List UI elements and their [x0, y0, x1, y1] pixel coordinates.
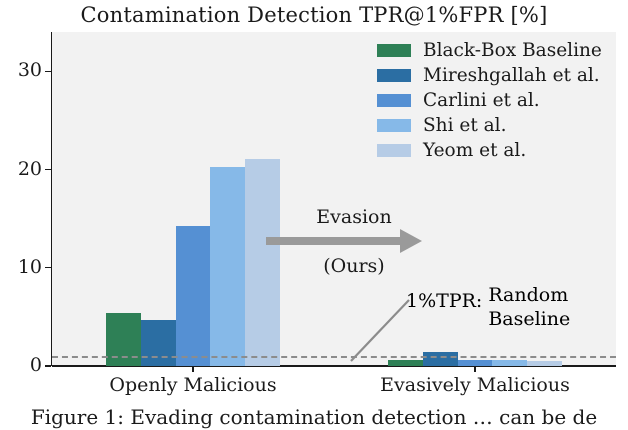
tpr-prefix-label: 1%TPR:	[406, 283, 482, 313]
y-axis-spine	[51, 32, 52, 366]
figure-caption: Figure 1: Evading contamination detectio…	[0, 405, 628, 430]
legend-label: Yeom et al.	[423, 141, 526, 161]
y-tick-mark	[45, 169, 51, 170]
y-tick-label: 10	[0, 258, 42, 277]
bar	[423, 352, 458, 366]
legend-label: Shi et al.	[423, 116, 506, 136]
bar	[492, 360, 527, 366]
bar	[210, 167, 245, 366]
legend-swatch-icon	[377, 44, 411, 57]
evasion-annotation: Evasion (Ours)	[258, 206, 438, 282]
legend-item[interactable]: Mireshgallah et al.	[377, 63, 617, 88]
legend-label: Mireshgallah et al.	[423, 66, 600, 86]
y-tick-mark	[45, 365, 51, 366]
chart-title: Contamination Detection TPR@1%FPR [%]	[0, 2, 628, 28]
bar	[527, 361, 562, 366]
y-tick-label: 30	[0, 61, 42, 80]
x-tick-mark	[474, 366, 475, 372]
legend-swatch-icon	[377, 94, 411, 107]
bar	[176, 226, 211, 366]
legend-swatch-icon	[377, 69, 411, 82]
tpr-suffix-line1: Random	[488, 284, 568, 306]
random-baseline-line	[52, 356, 616, 358]
y-tick-mark	[45, 267, 51, 268]
legend-item[interactable]: Carlini et al.	[377, 88, 617, 113]
x-tick-label: Openly Malicious	[63, 374, 323, 396]
legend: Black-Box BaselineMireshgallah et al.Car…	[377, 38, 617, 163]
x-tick-label: Evasively Malicious	[345, 374, 605, 396]
y-tick-label: 0	[0, 356, 42, 375]
legend-item[interactable]: Yeom et al.	[377, 138, 617, 163]
tpr-suffix-label: Random Baseline	[488, 283, 570, 331]
evasion-arrow-shaft	[266, 237, 402, 245]
tpr-annotation: 1%TPR: Random Baseline	[406, 283, 616, 331]
legend-swatch-icon	[377, 144, 411, 157]
bar	[141, 320, 176, 366]
figure-container: Contamination Detection TPR@1%FPR [%] 01…	[0, 0, 628, 430]
tpr-suffix-line2: Baseline	[488, 308, 570, 330]
legend-item[interactable]: Black-Box Baseline	[377, 38, 617, 63]
evasion-label-line1: Evasion	[264, 206, 444, 228]
evasion-arrow-head-icon	[400, 229, 422, 253]
x-tick-mark	[192, 366, 193, 372]
evasion-label-line2: (Ours)	[264, 255, 444, 277]
legend-item[interactable]: Shi et al.	[377, 113, 617, 138]
y-tick-mark	[45, 71, 51, 72]
legend-label: Black-Box Baseline	[423, 41, 602, 61]
legend-swatch-icon	[377, 119, 411, 132]
legend-label: Carlini et al.	[423, 91, 540, 111]
y-tick-label: 20	[0, 160, 42, 179]
bar	[388, 360, 423, 366]
